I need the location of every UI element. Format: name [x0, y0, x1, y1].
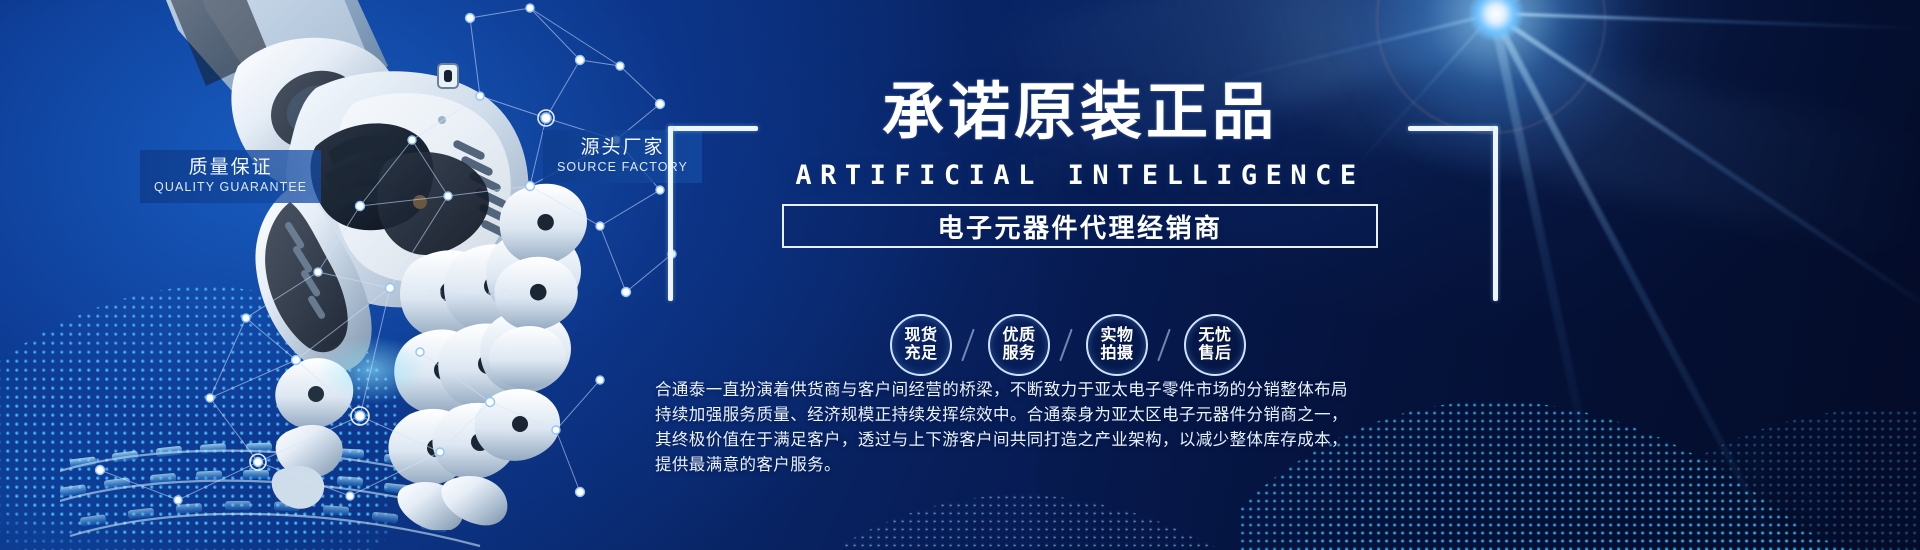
- feature-photo-line2: 拍摄: [1100, 345, 1133, 363]
- description-line-4: 提供最满意的客户服务。: [655, 453, 1315, 478]
- bracket-right-decoration: [1408, 126, 1498, 301]
- wave-mesh-center: [820, 470, 1240, 550]
- slash-separator-icon: [952, 328, 988, 362]
- description-line-3: 其终极价值在于满足客户，透过与上下游客户间共同打造之产业架构，以减少整体库存成本…: [655, 428, 1315, 453]
- feature-photo-line1: 实物: [1100, 327, 1133, 345]
- feature-badge-service: 优质 服务: [988, 314, 1050, 376]
- feature-aftersales-line2: 售后: [1198, 345, 1231, 363]
- business-scope-label: 电子元器件代理经销商: [937, 208, 1222, 245]
- slash-separator-icon: [1050, 328, 1086, 362]
- page-subtitle-en: ARTIFICIAL INTELLIGENCE: [730, 160, 1430, 191]
- feature-service-line1: 优质: [1002, 327, 1035, 345]
- ai-promo-banner: OPTIMUS: [0, 0, 1920, 550]
- business-scope-box: 电子元器件代理经销商: [782, 204, 1378, 248]
- slash-separator-icon: [1148, 328, 1184, 362]
- description-line-1: 合通泰一直扮演着供货商与客户间经营的桥梁，不断致力于亚太电子零件市场的分销整体布…: [655, 378, 1315, 403]
- feature-badge-real-photo: 实物 拍摄: [1086, 314, 1148, 376]
- feature-badge-stock: 现货 充足: [890, 314, 952, 376]
- feature-stock-line1: 现货: [904, 327, 937, 345]
- company-description: 合通泰一直扮演着供货商与客户间经营的桥梁，不断致力于亚太电子零件市场的分销整体布…: [655, 378, 1315, 478]
- tag-quality-cn: 质量保证: [154, 157, 307, 178]
- bracket-left-decoration: [668, 126, 758, 301]
- tag-quality-en: QUALITY GUARANTEE: [154, 180, 307, 194]
- feature-service-line2: 服务: [1002, 345, 1035, 363]
- feature-stock-line2: 充足: [904, 345, 937, 363]
- page-title: 承诺原装正品: [730, 80, 1430, 145]
- tag-quality-guarantee: 质量保证 QUALITY GUARANTEE: [140, 150, 321, 203]
- feature-aftersales-line1: 无忧: [1198, 327, 1231, 345]
- description-line-2: 持续加强服务质量、经济规模正持续发挥综效中。合通泰身为亚太区电子元器件分销商之一…: [655, 403, 1315, 428]
- dot-network-constellation: [60, 0, 680, 550]
- feature-badge-after-sales: 无忧 售后: [1184, 314, 1246, 376]
- feature-badges: 现货 充足 优质 服务 实物 拍摄 无忧 售后: [890, 307, 1310, 383]
